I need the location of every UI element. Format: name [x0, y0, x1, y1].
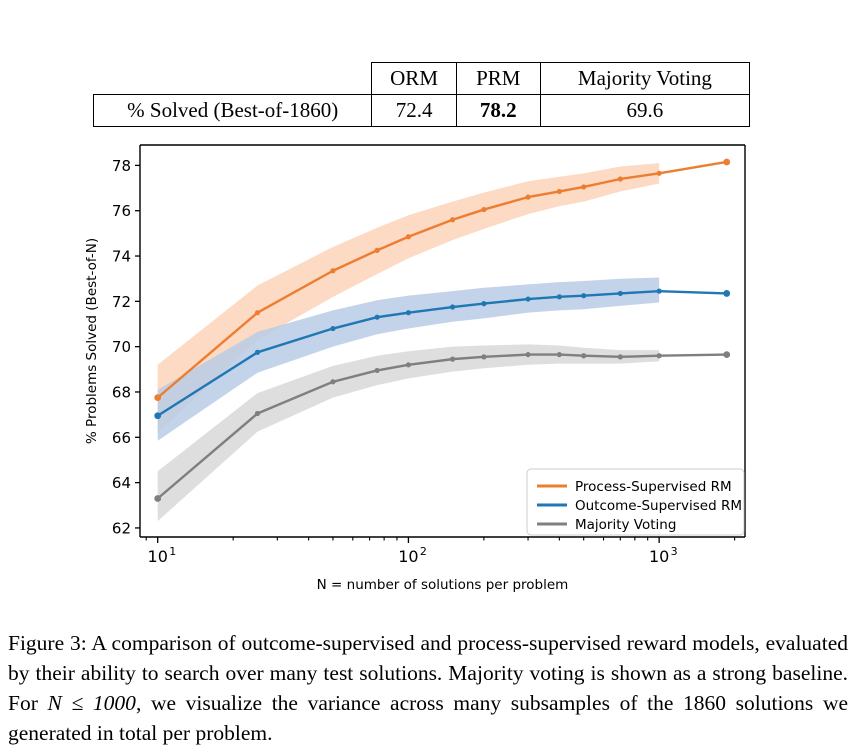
data-point-marker [374, 248, 379, 253]
y-axis-tick-label: 64 [112, 474, 131, 492]
data-point-marker [581, 353, 586, 358]
caption-prefix: Figure 3: [8, 631, 87, 655]
data-point-marker [374, 315, 379, 320]
table-cell-prm: 78.2 [456, 94, 540, 126]
data-point-marker [723, 290, 730, 297]
data-point-marker [557, 189, 562, 194]
y-axis-tick-label: 72 [112, 293, 131, 311]
data-point-marker [406, 234, 411, 239]
data-point-marker [657, 289, 662, 294]
chart-legend: Process-Supervised RMOutcome-Supervised … [527, 469, 744, 535]
data-point-marker [618, 291, 623, 296]
data-point-marker [255, 411, 260, 416]
svg-text:2: 2 [420, 545, 427, 558]
y-axis-title: % Problems Solved (Best-of-N) [84, 238, 100, 444]
data-point-marker [557, 294, 562, 299]
data-point-marker [330, 268, 335, 273]
table-row-label: % Solved (Best-of-1860) [94, 94, 372, 126]
line-chart-svg: 626466687072747678101102103 N = number o… [0, 140, 854, 600]
legend-label: Majority Voting [575, 517, 676, 533]
table-cell-orm: 72.4 [372, 94, 456, 126]
y-axis-tick-label: 74 [112, 248, 131, 266]
x-axis-tick-label: 102 [398, 545, 427, 566]
results-table-container: ORM PRM Majority Voting % Solved (Best-o… [93, 62, 750, 127]
confidence-bands-group [158, 163, 659, 521]
data-point-marker [255, 350, 260, 355]
figure-caption: Figure 3: A comparison of outcome-superv… [8, 628, 848, 748]
y-axis-tick-label: 78 [112, 157, 131, 175]
svg-text:1: 1 [169, 545, 176, 558]
svg-text:3: 3 [671, 545, 678, 558]
data-point-marker [154, 495, 161, 502]
legend-label: Process-Supervised RM [575, 479, 732, 495]
svg-text:10: 10 [148, 547, 168, 566]
data-point-marker [255, 310, 260, 315]
x-axis-tick-label: 101 [148, 545, 177, 566]
data-point-marker [154, 394, 161, 401]
y-axis-tick-label: 68 [112, 383, 131, 401]
figure-3-chart: 626466687072747678101102103 N = number o… [0, 140, 854, 600]
data-point-marker [657, 171, 662, 176]
y-axis-tick-label: 62 [112, 519, 131, 537]
y-axis-tick-label: 70 [112, 338, 131, 356]
data-point-marker [657, 353, 662, 358]
data-point-marker [330, 326, 335, 331]
data-point-marker [618, 176, 623, 181]
table-row: % Solved (Best-of-1860) 72.4 78.2 69.6 [94, 94, 750, 126]
svg-text:10: 10 [649, 547, 669, 566]
data-point-marker [581, 293, 586, 298]
legend-label: Outcome-Supervised RM [575, 498, 742, 514]
data-point-marker [481, 301, 486, 306]
data-point-marker [481, 354, 486, 359]
data-point-marker [374, 368, 379, 373]
data-point-marker [581, 184, 586, 189]
data-point-marker [557, 352, 562, 357]
data-point-marker [723, 351, 730, 358]
data-point-marker [406, 310, 411, 315]
data-point-marker [525, 352, 530, 357]
data-point-marker [330, 379, 335, 384]
table-header-prm: PRM [456, 63, 540, 95]
table-header-blank [94, 63, 372, 95]
y-axis-tick-label: 66 [112, 429, 131, 447]
x-axis-title: N = number of solutions per problem [317, 577, 569, 593]
data-point-marker [525, 296, 530, 301]
data-point-marker [618, 354, 623, 359]
data-point-marker [154, 412, 161, 419]
data-point-marker [450, 357, 455, 362]
table-header-row: ORM PRM Majority Voting [94, 63, 750, 95]
table-header-majority-voting: Majority Voting [540, 63, 749, 95]
data-point-marker [481, 207, 486, 212]
y-axis-tick-label: 76 [112, 202, 131, 220]
svg-text:10: 10 [398, 547, 418, 566]
table-header-orm: ORM [372, 63, 456, 95]
data-point-marker [450, 217, 455, 222]
results-table: ORM PRM Majority Voting % Solved (Best-o… [93, 62, 750, 127]
data-point-marker [525, 195, 530, 200]
caption-math: N ≤ 1000 [48, 691, 136, 715]
data-point-marker [406, 362, 411, 367]
data-point-marker [723, 159, 730, 166]
data-point-marker [450, 304, 455, 309]
table-cell-majority-voting: 69.6 [540, 94, 749, 126]
x-axis-tick-label: 103 [649, 545, 678, 566]
